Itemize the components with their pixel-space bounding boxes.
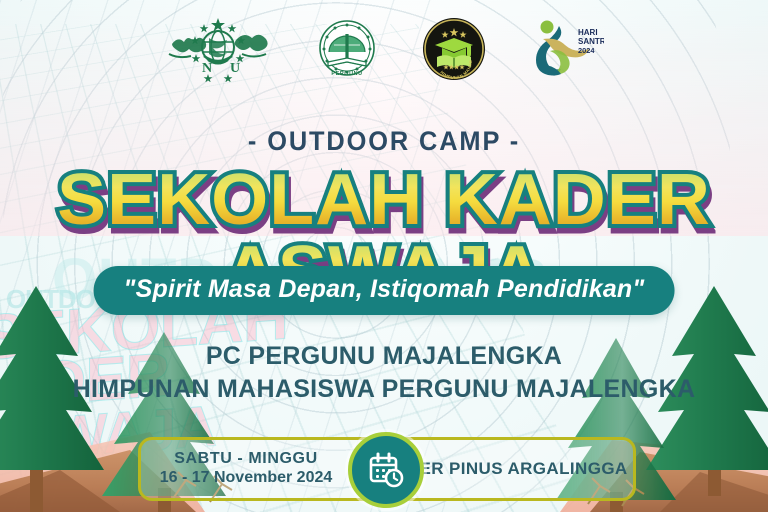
logo-pergunu: PERGUNU (316, 18, 378, 80)
logo-himpunan-mahasiswa-pergunu: HIMPUNAN MAHASISWA (422, 17, 486, 81)
schedule-days: SABTU - MINGGU (141, 450, 351, 469)
calendar-clock-icon (348, 432, 424, 508)
tagline-banner: "Spirit Masa Depan, Istiqomah Pendidikan… (94, 266, 675, 315)
schedule-dates: 16 - 17 November 2024 (141, 469, 351, 488)
santri-line2: SANTRI (578, 37, 604, 46)
logo-row: N U (0, 16, 768, 82)
schedule-block: SABTU - MINGGU 16 - 17 November 2024 (141, 450, 351, 488)
logo-nahdlatul-ulama: N U (164, 16, 272, 82)
nu-letter-u: U (230, 61, 240, 76)
poster-canvas: OUTDOOR CAMP OUTDOOR CAMP SEKOLAH KADER … (0, 0, 768, 512)
santri-line3: 2024 (578, 46, 595, 55)
pergunu-label: PERGUNU (331, 71, 362, 77)
nu-letter-n: N (202, 61, 212, 76)
santri-line1: HARI (578, 28, 598, 37)
organization-line-1: PC PERGUNU MAJALENGKA (0, 340, 768, 373)
logo-hari-santri-2024: HARI SANTRI 2024 (530, 17, 604, 81)
tagline-text: "Spirit Masa Depan, Istiqomah Pendidikan… (124, 275, 645, 304)
kicker-outdoor-camp: - OUTDOOR CAMP - (23, 126, 745, 157)
organization-block: PC PERGUNU MAJALENGKA HIMPUNAN MAHASISWA… (0, 340, 768, 406)
organization-line-2: HIMPUNAN MAHASISWA PERGUNU MAJALENGKA (0, 373, 768, 406)
